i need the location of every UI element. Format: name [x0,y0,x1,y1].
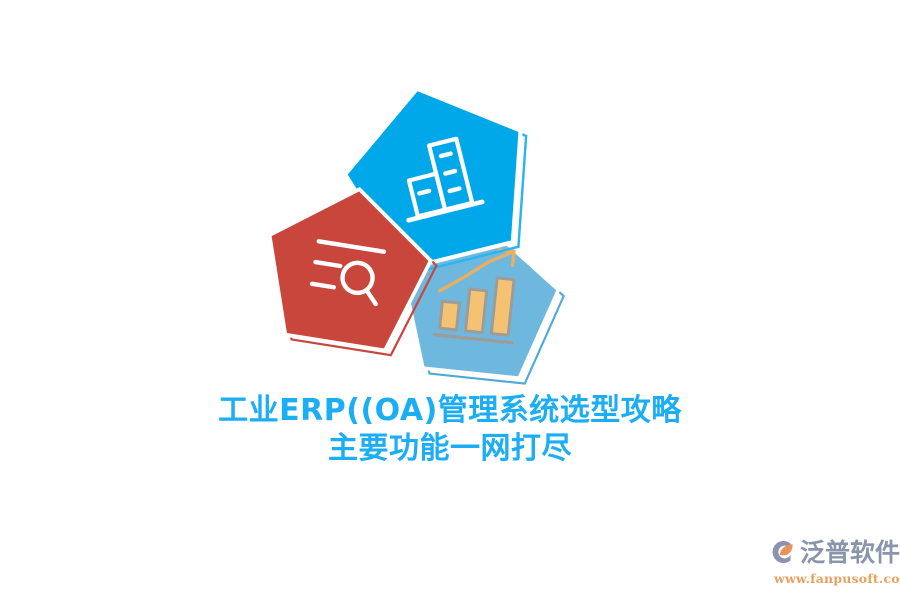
poster-headline: 工业ERP((OA)管理系统选型攻略 主要功能一网打尽 [0,392,900,469]
brand-watermark: 泛普软件 www.fanpusoft.com [766,534,894,590]
brand-name: 泛普软件 [800,540,900,565]
poster-canvas: 工业ERP((OA)管理系统选型攻略 主要功能一网打尽 泛普软件 www.fan… [0,0,900,600]
brand-url: www.fanpusoft.com [766,571,894,586]
headline-line-2: 主要功能一网打尽 [0,430,900,468]
brand-watermark-row: 泛普软件 [766,534,894,570]
fanpu-logo-icon [766,536,798,568]
headline-line-1: 工业ERP((OA)管理系统选型攻略 [0,392,900,430]
pentagon-cluster-graphic [270,85,590,395]
